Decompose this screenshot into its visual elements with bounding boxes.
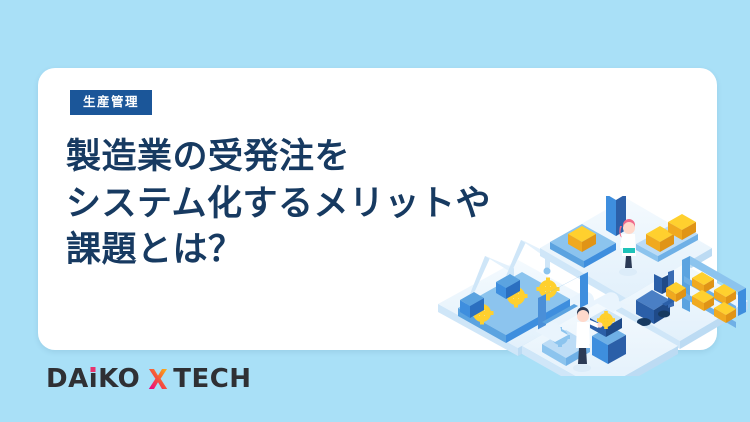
page-title-line-2: システム化するメリットや <box>66 181 491 228</box>
page-title: 製造業の受発注を システム化するメリットや 課題とは？ <box>66 134 491 274</box>
slide-canvas: 生産管理 製造業の受発注を システム化するメリットや 課題とは？ <box>0 0 750 422</box>
logo-text-tech: TECH <box>173 366 251 392</box>
logo-text-daiko-part2: KO <box>98 366 140 392</box>
logo-i-dot-icon <box>91 367 96 372</box>
logo-text-i: i <box>89 366 98 392</box>
content-card: 生産管理 製造業の受発注を システム化するメリットや 課題とは？ <box>38 68 717 350</box>
page-title-line-3: 課題とは？ <box>66 227 491 274</box>
logo-x-icon <box>146 367 170 391</box>
brand-logo: DAiKO TECH <box>46 366 252 392</box>
page-title-line-1: 製造業の受発注を <box>66 134 491 181</box>
category-badge-wrapper: 生産管理 <box>70 90 152 115</box>
logo-text-daiko-part1: DA <box>46 366 89 392</box>
category-badge: 生産管理 <box>70 90 152 115</box>
